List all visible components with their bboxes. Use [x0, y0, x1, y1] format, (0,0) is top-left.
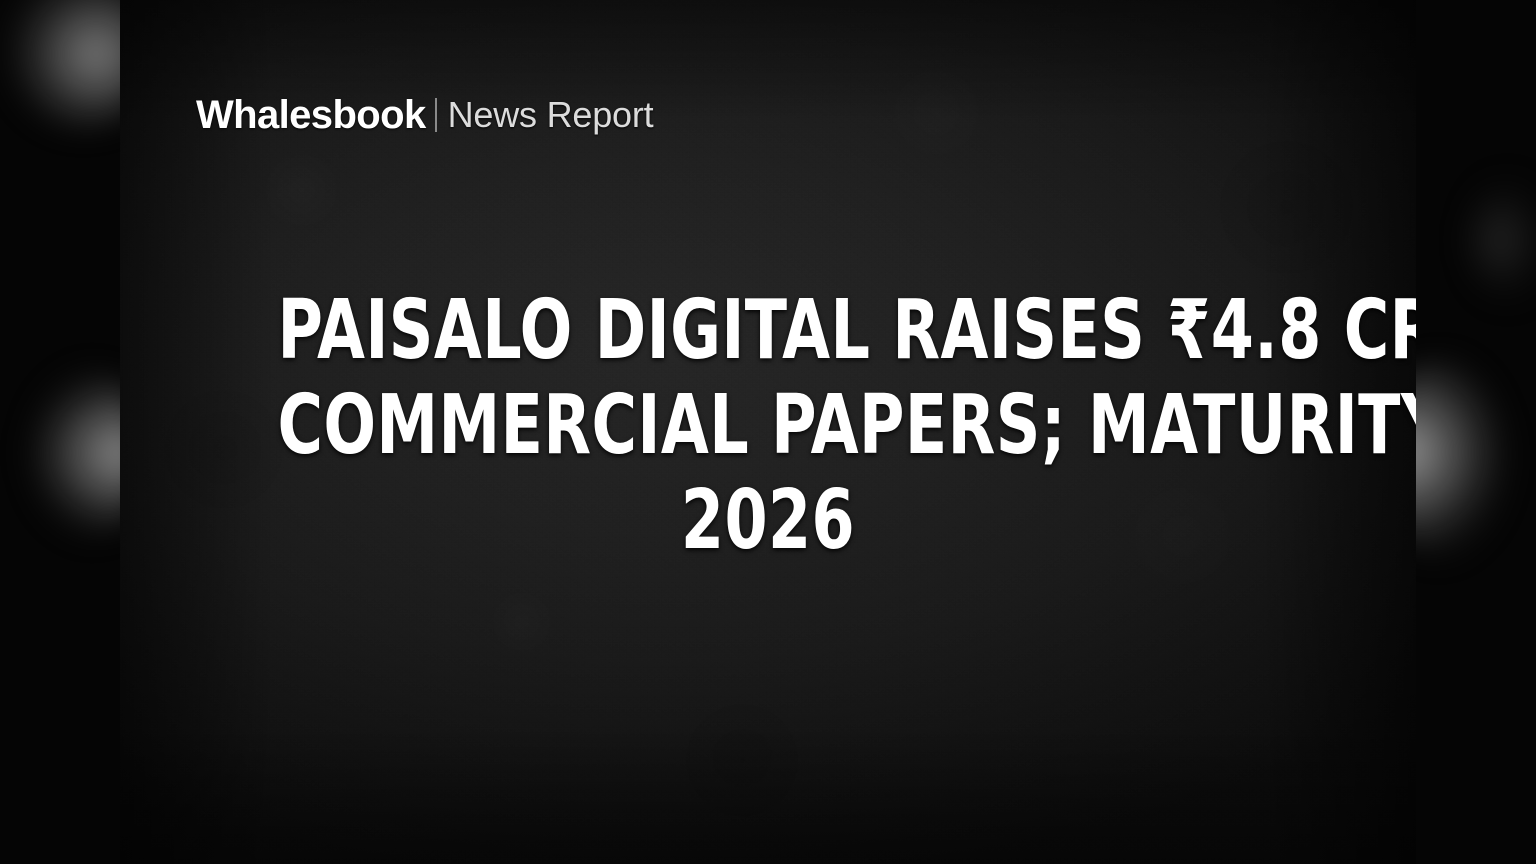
- brand-divider: [435, 98, 437, 132]
- brand-name: Whalesbook: [196, 95, 426, 135]
- news-card-stage: Whalesbook News Report PAISALO DIGITAL R…: [0, 0, 1536, 864]
- brand-tagline: News Report: [448, 97, 654, 133]
- card-content: Whalesbook News Report PAISALO DIGITAL R…: [120, 0, 1416, 864]
- headline: PAISALO DIGITAL RAISES ₹4.8 CR VIA COMME…: [120, 283, 1416, 568]
- headline-line-2: COMMERCIAL PAPERS; MATURITY SEP 30,: [277, 378, 1258, 473]
- news-report-card: Whalesbook News Report PAISALO DIGITAL R…: [120, 0, 1416, 864]
- backdrop-glow-top-right: [1476, 180, 1536, 300]
- headline-line-1: PAISALO DIGITAL RAISES ₹4.8 CR VIA: [277, 283, 1258, 378]
- brand-lockup: Whalesbook News Report: [196, 95, 653, 135]
- headline-line-3: 2026: [277, 473, 1258, 568]
